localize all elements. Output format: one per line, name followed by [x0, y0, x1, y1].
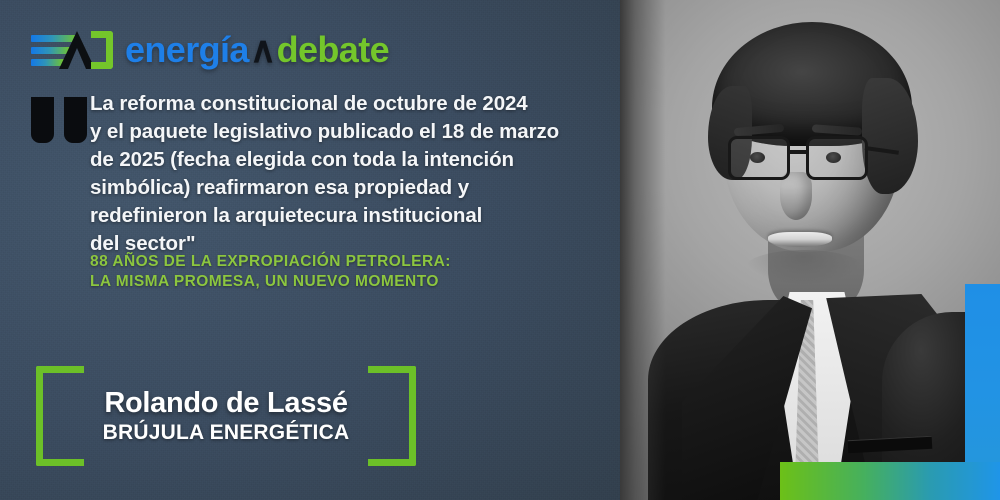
author-name: Rolando de Lassé	[104, 387, 347, 420]
quote-line: de 2025 (fecha elegida con toda la inten…	[90, 146, 670, 174]
nameplate-bracket-left-icon	[36, 366, 84, 466]
quote-line: La reforma constitucional de octubre de …	[90, 90, 670, 118]
logomark-chevron-icon	[59, 31, 95, 69]
subtitle-line: 88 AÑOS DE LA EXPROPIACIÓN PETROLERA:	[90, 252, 451, 272]
nameplate: Rolando de Lassé BRÚJULA ENERGÉTICA	[36, 366, 416, 466]
quote-text: La reforma constitucional de octubre de …	[90, 90, 670, 258]
brand-wordmark: energía∧debate	[125, 32, 389, 68]
quote-line: simbólica) reafirmaron esa propiedad y	[90, 174, 670, 202]
portrait-photo	[620, 0, 1000, 500]
subtitle-line: LA MISMA PROMESA, UN NUEVO MOMENTO	[90, 272, 451, 292]
logomark-bracket-icon	[91, 31, 113, 69]
quote-line: y el paquete legislativo publicado el 18…	[90, 118, 670, 146]
quote-glyph-left	[31, 97, 54, 143]
author-column: BRÚJULA ENERGÉTICA	[103, 421, 350, 445]
energia-debate-logomark-icon	[31, 29, 113, 71]
nameplate-bracket-right-icon	[368, 366, 416, 466]
nameplate-content: Rolando de Lassé BRÚJULA ENERGÉTICA	[84, 366, 368, 466]
quote-glyph-right	[64, 97, 87, 143]
accent-bar-bottom	[780, 462, 1000, 500]
article-subtitle: 88 AÑOS DE LA EXPROPIACIÓN PETROLERA: LA…	[90, 252, 451, 292]
portrait-edge-fade	[620, 0, 1000, 500]
wordmark-debate: debate	[277, 29, 389, 70]
accent-bar-right	[965, 284, 1000, 462]
brand-logo[interactable]: energía∧debate	[31, 29, 389, 71]
quote-card: energía∧debate La reforma constitucional…	[0, 0, 1000, 500]
wordmark-energia: energía	[125, 29, 249, 70]
quote-line: redefinieron la arquietecura institucion…	[90, 202, 670, 230]
wordmark-separator-icon: ∧	[249, 29, 277, 70]
quotation-mark-icon	[31, 97, 87, 143]
